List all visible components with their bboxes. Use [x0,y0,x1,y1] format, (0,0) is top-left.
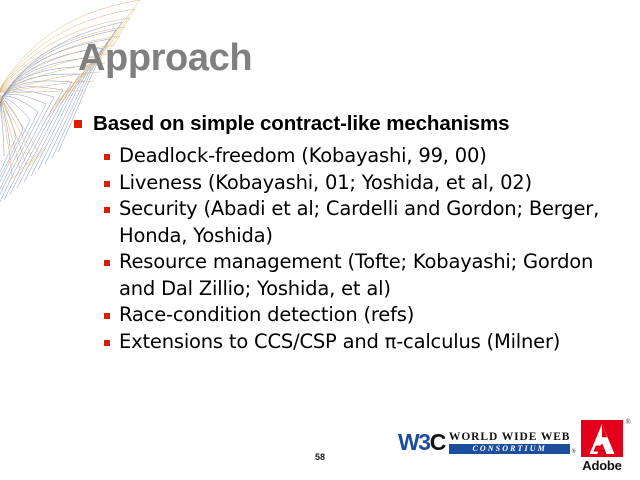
list-item: Liveness (Kobayashi, 01; Yoshida, et al,… [104,170,634,197]
slide-content: Based on simple contract-like mechanisms… [74,110,634,355]
bullet-marker-icon [104,340,110,346]
bullet-level2-text: Security (Abadi et al; Cardelli and Gord… [119,196,634,249]
page-title: Approach [78,36,252,80]
adobe-registered-symbol: ® [626,418,631,426]
w3c-wordmark-icon: W3C [398,431,445,454]
bullet-marker-icon [104,207,110,213]
bullet-level1: Based on simple contract-like mechanisms [74,110,634,137]
adobe-logo: ® Adobe [575,420,629,473]
bullet-marker-icon [74,120,82,128]
bullet-marker-icon [104,181,110,187]
list-item: Race-condition detection (refs) [104,302,634,329]
bullet-level2-text: Extensions to CCS/CSP and π-calculus (Mi… [119,329,560,356]
list-item: Extensions to CCS/CSP and π-calculus (Mi… [104,329,634,356]
w3c-mark-w3: W3 [398,429,430,455]
bullet-level2-text: Resource management (Tofte; Kobayashi; G… [119,249,634,302]
w3c-mark-c: C [430,429,445,455]
adobe-mark-icon: ® [581,420,623,457]
w3c-words: WORLD WIDE WEB CONSORTIUM [449,431,570,454]
list-item: Deadlock-freedom (Kobayashi, 99, 00) [104,143,634,170]
bullet-level2-text: Deadlock-freedom (Kobayashi, 99, 00) [119,143,487,170]
bullet-level2-text: Liveness (Kobayashi, 01; Yoshida, et al,… [119,170,532,197]
sub-bullet-list: Deadlock-freedom (Kobayashi, 99, 00) Liv… [104,143,634,355]
w3c-logo: W3C WORLD WIDE WEB CONSORTIUM ® [398,427,576,457]
w3c-consortium-text: CONSORTIUM [449,444,570,454]
bullet-level1-text: Based on simple contract-like mechanisms [93,110,509,137]
w3c-world-wide-web-text: WORLD WIDE WEB [449,431,570,443]
adobe-wordmark-text: Adobe [575,458,629,473]
bullet-marker-icon [104,260,110,266]
bullet-marker-icon [104,313,110,319]
bullet-level2-text: Race-condition detection (refs) [119,302,414,329]
bullet-marker-icon [104,154,110,160]
list-item: Resource management (Tofte; Kobayashi; G… [104,249,634,302]
list-item: Security (Abadi et al; Cardelli and Gord… [104,196,634,249]
